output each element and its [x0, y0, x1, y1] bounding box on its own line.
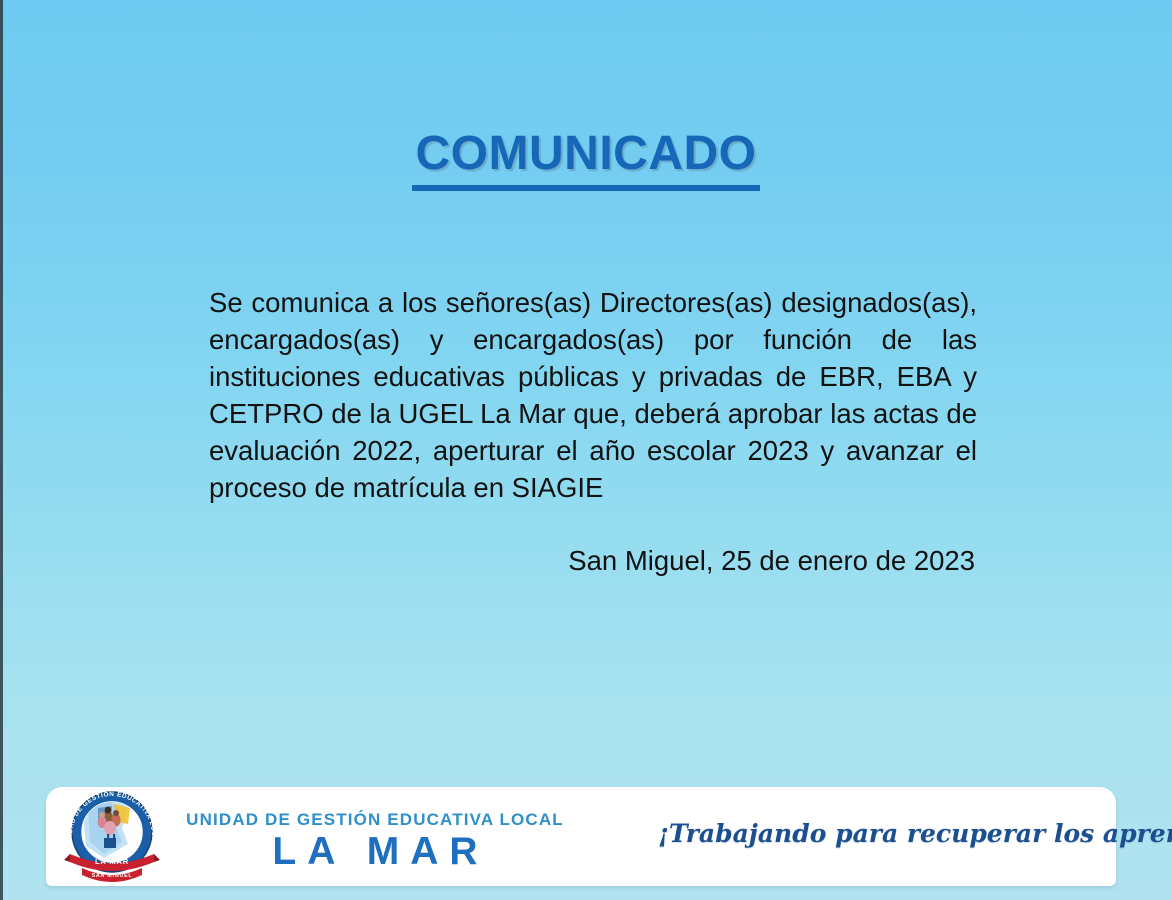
page-title: COMUNICADO — [412, 128, 761, 191]
ugel-seal-logo: UNIDAD DE GESTIÓN EDUCATIVA LOCAL — [58, 782, 166, 890]
ugel-slogan: ¡Trabajando para recuperar los aprendiza… — [658, 819, 1088, 848]
footer-bar: UNIDAD DE GESTIÓN EDUCATIVA LOCAL — [46, 787, 1116, 886]
announcement-paragraph: Se comunica a los señores(as) Directores… — [209, 284, 977, 506]
seal-ribbon-secondary: SAN MIGUEL — [92, 873, 133, 879]
comunicado-slide: COMUNICADO Se comunica a los señores(as)… — [0, 0, 1172, 900]
ugel-organization-name: LA MAR — [175, 829, 575, 874]
announcement-body: Se comunica a los señores(as) Directores… — [209, 284, 977, 579]
ugel-wordmark: UNIDAD DE GESTIÓN EDUCATIVA LOCAL LA MAR — [175, 811, 575, 874]
announcement-date: San Miguel, 25 de enero de 2023 — [209, 506, 977, 579]
page-title-container: COMUNICADO — [0, 128, 1172, 191]
ugel-organization-line: UNIDAD DE GESTIÓN EDUCATIVA LOCAL — [175, 811, 575, 829]
seal-ribbon-primary: LA MAR — [95, 857, 129, 866]
